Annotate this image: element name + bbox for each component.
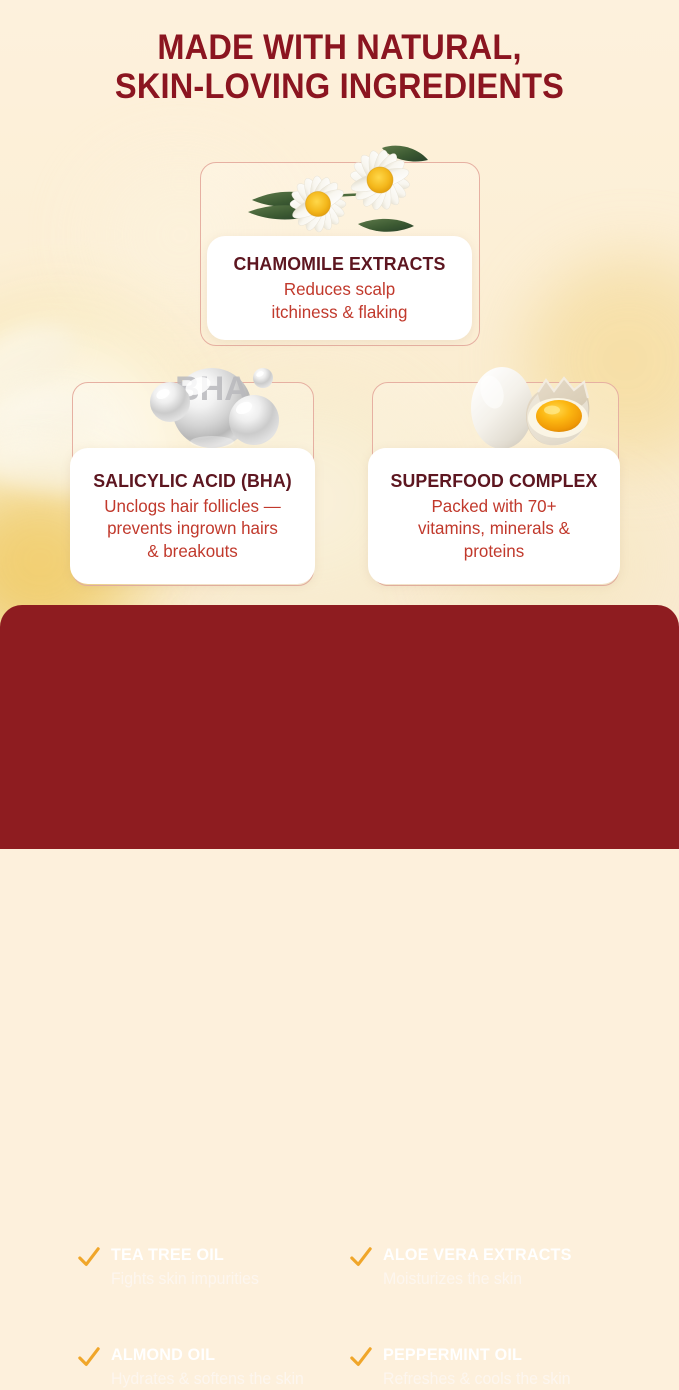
ingredient-info-superfood-complex: SUPERFOOD COMPLEX Packed with 70+ vitami… [368, 448, 620, 584]
page-title-line-2: SKIN-LOVING INGREDIENTS [24, 67, 655, 106]
benefit-item-aloe-vera-extracts: ALOE VERA EXTRACTS Moisturizes the skin [350, 1245, 582, 1290]
benefit-desc: Refreshes & cools the skin [383, 1369, 571, 1390]
benefits-panel: TEA TREE OIL Fights skin impurities ALOE… [0, 605, 679, 849]
benefit-desc: Fights skin impurities [111, 1269, 259, 1290]
benefit-title: ALOE VERA EXTRACTS [383, 1245, 572, 1265]
ingredient-info-chamomile: CHAMOMILE EXTRACTS Reduces scalp itchine… [207, 236, 472, 340]
ingredient-desc-line: & breakouts [74, 540, 312, 562]
ingredient-desc-line: Packed with 70+ [372, 495, 616, 517]
benefit-title: ALMOND OIL [111, 1345, 302, 1365]
page-title-line-1: MADE WITH NATURAL, [24, 28, 655, 67]
benefit-item-peppermint-oil: PEPPERMINT OIL Refreshes & cools the ski… [350, 1345, 578, 1390]
ingredient-desc-line: vitamins, minerals & [372, 517, 616, 539]
benefit-item-almond-oil: ALMOND OIL Hydrates & softens the skin [78, 1345, 312, 1390]
page-title: MADE WITH NATURAL, SKIN-LOVING INGREDIEN… [24, 28, 655, 106]
check-mark-icon [350, 1247, 372, 1269]
benefit-item-tea-tree-oil: TEA TREE OIL Fights skin impurities [78, 1245, 265, 1290]
check-mark-icon [350, 1347, 372, 1369]
ingredient-desc-line: prevents ingrown hairs [74, 517, 312, 539]
ingredient-desc-line: Reduces scalp [211, 278, 468, 300]
benefit-title: TEA TREE OIL [111, 1245, 257, 1265]
check-mark-icon [78, 1247, 100, 1269]
ingredient-desc-line: Unclogs hair follicles — [74, 495, 312, 517]
ingredient-desc-line: itchiness & flaking [211, 301, 468, 323]
ingredient-desc-line: proteins [372, 540, 616, 562]
benefit-desc: Moisturizes the skin [383, 1269, 574, 1290]
benefit-desc: Hydrates & softens the skin [111, 1369, 304, 1390]
cracked-egg-yolk-image [452, 358, 604, 460]
ingredient-title: SALICYLIC ACID (BHA) [75, 470, 310, 492]
ingredient-title: CHAMOMILE EXTRACTS [212, 253, 466, 275]
check-mark-icon [78, 1347, 100, 1369]
ingredient-info-salicylic-acid: SALICYLIC ACID (BHA) Unclogs hair follic… [70, 448, 315, 584]
ingredient-title: SUPERFOOD COMPLEX [373, 470, 615, 492]
chamomile-flowers-image [232, 138, 444, 248]
benefit-title: PEPPERMINT OIL [383, 1345, 569, 1365]
